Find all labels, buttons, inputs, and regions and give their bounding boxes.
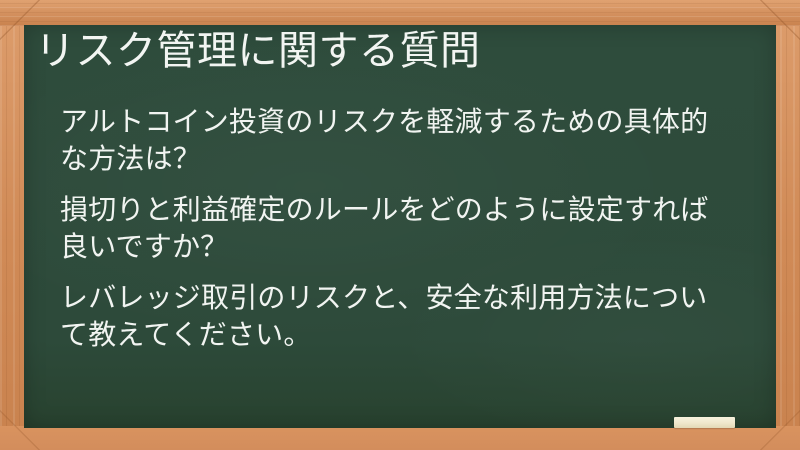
chalkboard-slide: リスク管理に関する質問 アルトコイン投資のリスクを軽減するための具体的な方法は？… xyxy=(0,0,800,450)
question-list: アルトコイン投資のリスクを軽減するための具体的な方法は？ 損切りと利益確定のルー… xyxy=(60,103,732,353)
chalkboard-surface: リスク管理に関する質問 アルトコイン投資のリスクを軽減するための具体的な方法は？… xyxy=(24,25,776,428)
question-item: アルトコイン投資のリスクを軽減するための具体的な方法は？ xyxy=(60,103,732,177)
chalkboard-content: リスク管理に関する質問 アルトコイン投資のリスクを軽減するための具体的な方法は？… xyxy=(24,25,776,428)
chalk-stick-icon xyxy=(674,417,735,428)
frame-rail-top xyxy=(0,0,800,26)
slide-title: リスク管理に関する質問 xyxy=(35,28,755,75)
question-item: レバレッジ取引のリスクと、安全な利用方法について教えてください。 xyxy=(60,279,732,353)
question-item: 損切りと利益確定のルールをどのように設定すれば良いですか？ xyxy=(60,191,732,265)
frame-rail-bottom xyxy=(0,426,800,450)
